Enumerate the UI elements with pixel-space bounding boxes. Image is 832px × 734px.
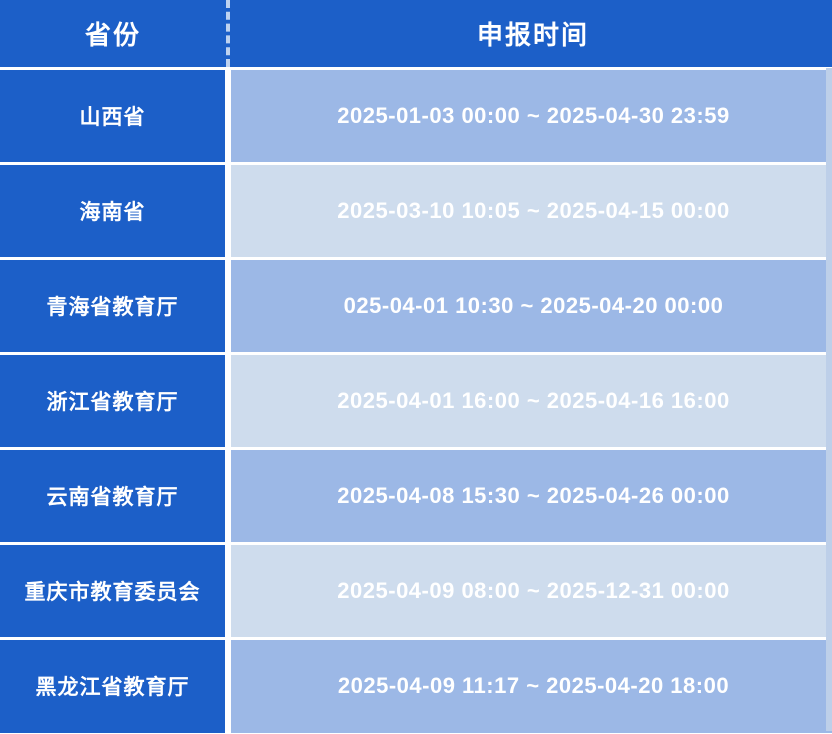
- cell-declaration-time: 2025-04-08 15:30 ~ 2025-04-26 00:00: [228, 448, 832, 543]
- table-row: 浙江省教育厅2025-04-01 16:00 ~ 2025-04-16 16:0…: [0, 353, 832, 448]
- cell-declaration-time: 2025-04-09 11:17 ~ 2025-04-20 18:00: [228, 638, 832, 733]
- cell-province: 山西省: [0, 68, 228, 163]
- table-body: 山西省2025-01-03 00:00 ~ 2025-04-30 23:59海南…: [0, 68, 832, 733]
- cell-declaration-time: 025-04-01 10:30 ~ 2025-04-20 00:00: [228, 258, 832, 353]
- cell-province: 海南省: [0, 163, 228, 258]
- table-row: 黑龙江省教育厅2025-04-09 11:17 ~ 2025-04-20 18:…: [0, 638, 832, 733]
- column-header-declaration-time: 申报时间: [228, 0, 832, 68]
- cell-province: 黑龙江省教育厅: [0, 638, 228, 733]
- cell-province: 浙江省教育厅: [0, 353, 228, 448]
- cell-province: 云南省教育厅: [0, 448, 228, 543]
- table-row: 山西省2025-01-03 00:00 ~ 2025-04-30 23:59: [0, 68, 832, 163]
- declaration-schedule-container: 省份 申报时间 山西省2025-01-03 00:00 ~ 2025-04-30…: [0, 0, 832, 734]
- cell-province: 重庆市教育委员会: [0, 543, 228, 638]
- cell-declaration-time: 2025-04-01 16:00 ~ 2025-04-16 16:00: [228, 353, 832, 448]
- table-row: 青海省教育厅025-04-01 10:30 ~ 2025-04-20 00:00: [0, 258, 832, 353]
- table-header: 省份 申报时间: [0, 0, 832, 68]
- cell-declaration-time: 2025-03-10 10:05 ~ 2025-04-15 00:00: [228, 163, 832, 258]
- table-row: 重庆市教育委员会2025-04-09 08:00 ~ 2025-12-31 00…: [0, 543, 832, 638]
- cell-declaration-time: 2025-04-09 08:00 ~ 2025-12-31 00:00: [228, 543, 832, 638]
- table-row: 云南省教育厅2025-04-08 15:30 ~ 2025-04-26 00:0…: [0, 448, 832, 543]
- table-row: 海南省2025-03-10 10:05 ~ 2025-04-15 00:00: [0, 163, 832, 258]
- cell-declaration-time: 2025-01-03 00:00 ~ 2025-04-30 23:59: [228, 68, 832, 163]
- declaration-schedule-table: 省份 申报时间 山西省2025-01-03 00:00 ~ 2025-04-30…: [0, 0, 832, 733]
- column-header-province: 省份: [0, 0, 228, 68]
- cell-province: 青海省教育厅: [0, 258, 228, 353]
- table-header-row: 省份 申报时间: [0, 0, 832, 68]
